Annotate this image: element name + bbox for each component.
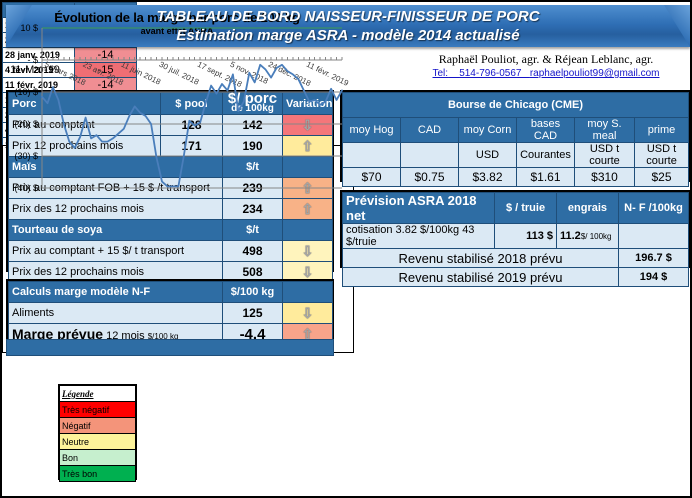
- cme-value-cad: $0.75: [401, 168, 459, 187]
- calc-unit: $/100 kg: [223, 282, 283, 303]
- asra-revenu-2019-label: Revenu stabilisé 2019 prévu: [343, 268, 619, 287]
- asra-col-truie: $ / truie: [495, 193, 557, 224]
- legend-item: Très négatif: [60, 402, 136, 418]
- cme-col-bases-cad: bases CAD: [517, 118, 575, 143]
- asra-row: Revenu stabilisé 2019 prévu 194 $: [343, 268, 689, 287]
- email-link[interactable]: raphaelpouliot99@gmail.com: [530, 68, 660, 79]
- asra-nf-empty: [619, 224, 689, 249]
- cme-title: Bourse de Chicago (CME): [343, 93, 689, 118]
- tel-label: Tel:: [433, 68, 449, 79]
- asra-forecast-table: Prévision ASRA 2018 net $ / truie engrai…: [340, 190, 690, 268]
- row-value: 498: [223, 241, 283, 262]
- legend-label-neutre: Neutre: [60, 434, 136, 450]
- cme-col-prime: prime: [635, 118, 689, 143]
- cme-unit-bases-cad: Courantes: [517, 143, 575, 168]
- phone-link[interactable]: 514-796-0567: [459, 68, 521, 79]
- asra-col-nf: N- F /100kg: [619, 193, 689, 224]
- asra-detail-label: cotisation 3.82 $/100kg 43 $/truie: [343, 224, 495, 249]
- cme-col-moy-corn: moy Corn: [459, 118, 517, 143]
- legend-label-tres-negatif: Très négatif: [60, 402, 136, 418]
- banner-line-1: TABLEAU DE BORD NAISSEUR-FINISSEUR DE PO…: [6, 7, 690, 26]
- cme-unit-moy-smeal: USD t courte: [575, 143, 635, 168]
- cme-value-moy-smeal: $310: [575, 168, 635, 187]
- calc-table-filler-bar: [6, 339, 334, 356]
- asra-detail-row: cotisation 3.82 $/100kg 43 $/truie 113 $…: [343, 224, 689, 249]
- cme-header-row: moy Hog CAD moy Corn bases CAD moy S. me…: [343, 118, 689, 143]
- cme-unit-prime: USD t courte: [635, 143, 689, 168]
- chicago-board-table: Bourse de Chicago (CME) moy Hog CAD moy …: [340, 90, 690, 182]
- asra-revenu-2019-value: 194 $: [619, 268, 689, 287]
- cme-unit-row: USD Courantes USD t courte USD t courte: [343, 143, 689, 168]
- row-value-aliments: 125: [223, 303, 283, 324]
- legend-item: Très bon: [60, 466, 136, 482]
- banner-line-2: Estimation marge ASRA - modèle 2014 actu…: [6, 26, 690, 45]
- cme-value-row: $70 $0.75 $3.82 $1.61 $310 $25: [343, 168, 689, 187]
- legend-item: Neutre: [60, 434, 136, 450]
- section-spacer: [283, 220, 333, 241]
- contact-line: Tel: 514-796-0567 raphaelpouliot99@gmail…: [402, 68, 690, 79]
- cme-value-prime: $25: [635, 168, 689, 187]
- table-row: Aliments 125 ⇩: [9, 303, 333, 324]
- authors-line: Raphaël Pouliot, agr. & Réjean Leblanc, …: [402, 52, 690, 67]
- legend-label-tres-bon: Très bon: [60, 466, 136, 482]
- banner-text-block: TABLEAU DE BORD NAISSEUR-FINISSEUR DE PO…: [6, 7, 690, 45]
- legend-label-negatif: Négatif: [60, 418, 136, 434]
- svg-text:11 févr. 2019: 11 févr. 2019: [305, 60, 350, 88]
- cme-col-moy-smeal: moy S. meal: [575, 118, 635, 143]
- asra-row: Revenu stabilisé 2018 prévu 196.7 $: [343, 249, 689, 268]
- asra-truie-value: 113 $: [495, 224, 557, 249]
- asra-title: Prévision ASRA 2018 net: [343, 193, 495, 224]
- asra-engrais-unit: $/ 100kg: [581, 232, 612, 241]
- section-header-row: Tourteau de soya $/t: [9, 220, 333, 241]
- cme-unit-cad: [401, 143, 459, 168]
- arrow-down-icon: ⇩: [302, 243, 314, 259]
- calc-header-row: Calculs marge modèle N-F $/100 kg: [9, 282, 333, 303]
- calc-spacer: [283, 282, 333, 303]
- cme-col-cad: CAD: [401, 118, 459, 143]
- calc-title: Calculs marge modèle N-F: [9, 282, 223, 303]
- legend-title: Légende: [60, 386, 136, 402]
- dashboard-page: TABLEAU DE BORD NAISSEUR-FINISSEUR DE PO…: [0, 0, 692, 498]
- svg-text:5 mars 2018: 5 mars 2018: [43, 60, 87, 88]
- legend-item: Négatif: [60, 418, 136, 434]
- arrow-down-icon: ⇩: [302, 305, 314, 321]
- row-label-aliments: Aliments: [9, 303, 223, 324]
- asra-revenu-2018-label: Revenu stabilisé 2018 prévu: [343, 249, 619, 268]
- section-title-soya: Tourteau de soya: [9, 220, 223, 241]
- margin-calc-table: Calculs marge modèle N-F $/100 kg Alimen…: [6, 279, 334, 339]
- variation-cell: ⇩: [283, 303, 333, 324]
- asra-header-row: Prévision ASRA 2018 net $ / truie engrai…: [343, 193, 689, 224]
- legend-label-bon: Bon: [60, 450, 136, 466]
- cme-value-moy-corn: $3.82: [459, 168, 517, 187]
- asra-engrais-value: 11.2: [560, 230, 581, 242]
- chart-xtick-labels: 5 mars 201823 avr. 201811 juin 201830 ju…: [43, 60, 350, 90]
- chart-gridlines: [42, 28, 342, 188]
- table-row: Prix au comptant + 15 $/ t transport 498…: [9, 241, 333, 262]
- legend-title-row: Légende: [60, 386, 136, 402]
- legend-item: Bon: [60, 450, 136, 466]
- cme-value-bases-cad: $1.61: [517, 168, 575, 187]
- legend-box: Légende Très négatif Négatif Neutre Bon …: [58, 384, 137, 480]
- variation-cell: ⇩: [283, 241, 333, 262]
- asra-engrais-cell: 11.2$/ 100kg: [557, 224, 619, 249]
- svg-text:30 juil. 2018: 30 juil. 2018: [158, 60, 201, 87]
- cme-unit-moy-corn: USD: [459, 143, 517, 168]
- asra-revenu-2018-value: 196.7 $: [619, 249, 689, 268]
- row-label: Prix au comptant + 15 $/ t transport: [9, 241, 223, 262]
- svg-text:11 juin 2018: 11 juin 2018: [120, 60, 163, 87]
- cme-title-row: Bourse de Chicago (CME): [343, 93, 689, 118]
- svg-text:23 avr. 2018: 23 avr. 2018: [81, 60, 125, 88]
- asra-col-engrais: engrais: [557, 193, 619, 224]
- section-unit-soya: $/t: [223, 220, 283, 241]
- title-banner: TABLEAU DE BORD NAISSEUR-FINISSEUR DE PO…: [6, 5, 690, 47]
- arrow-down-icon: ⇩: [302, 264, 314, 280]
